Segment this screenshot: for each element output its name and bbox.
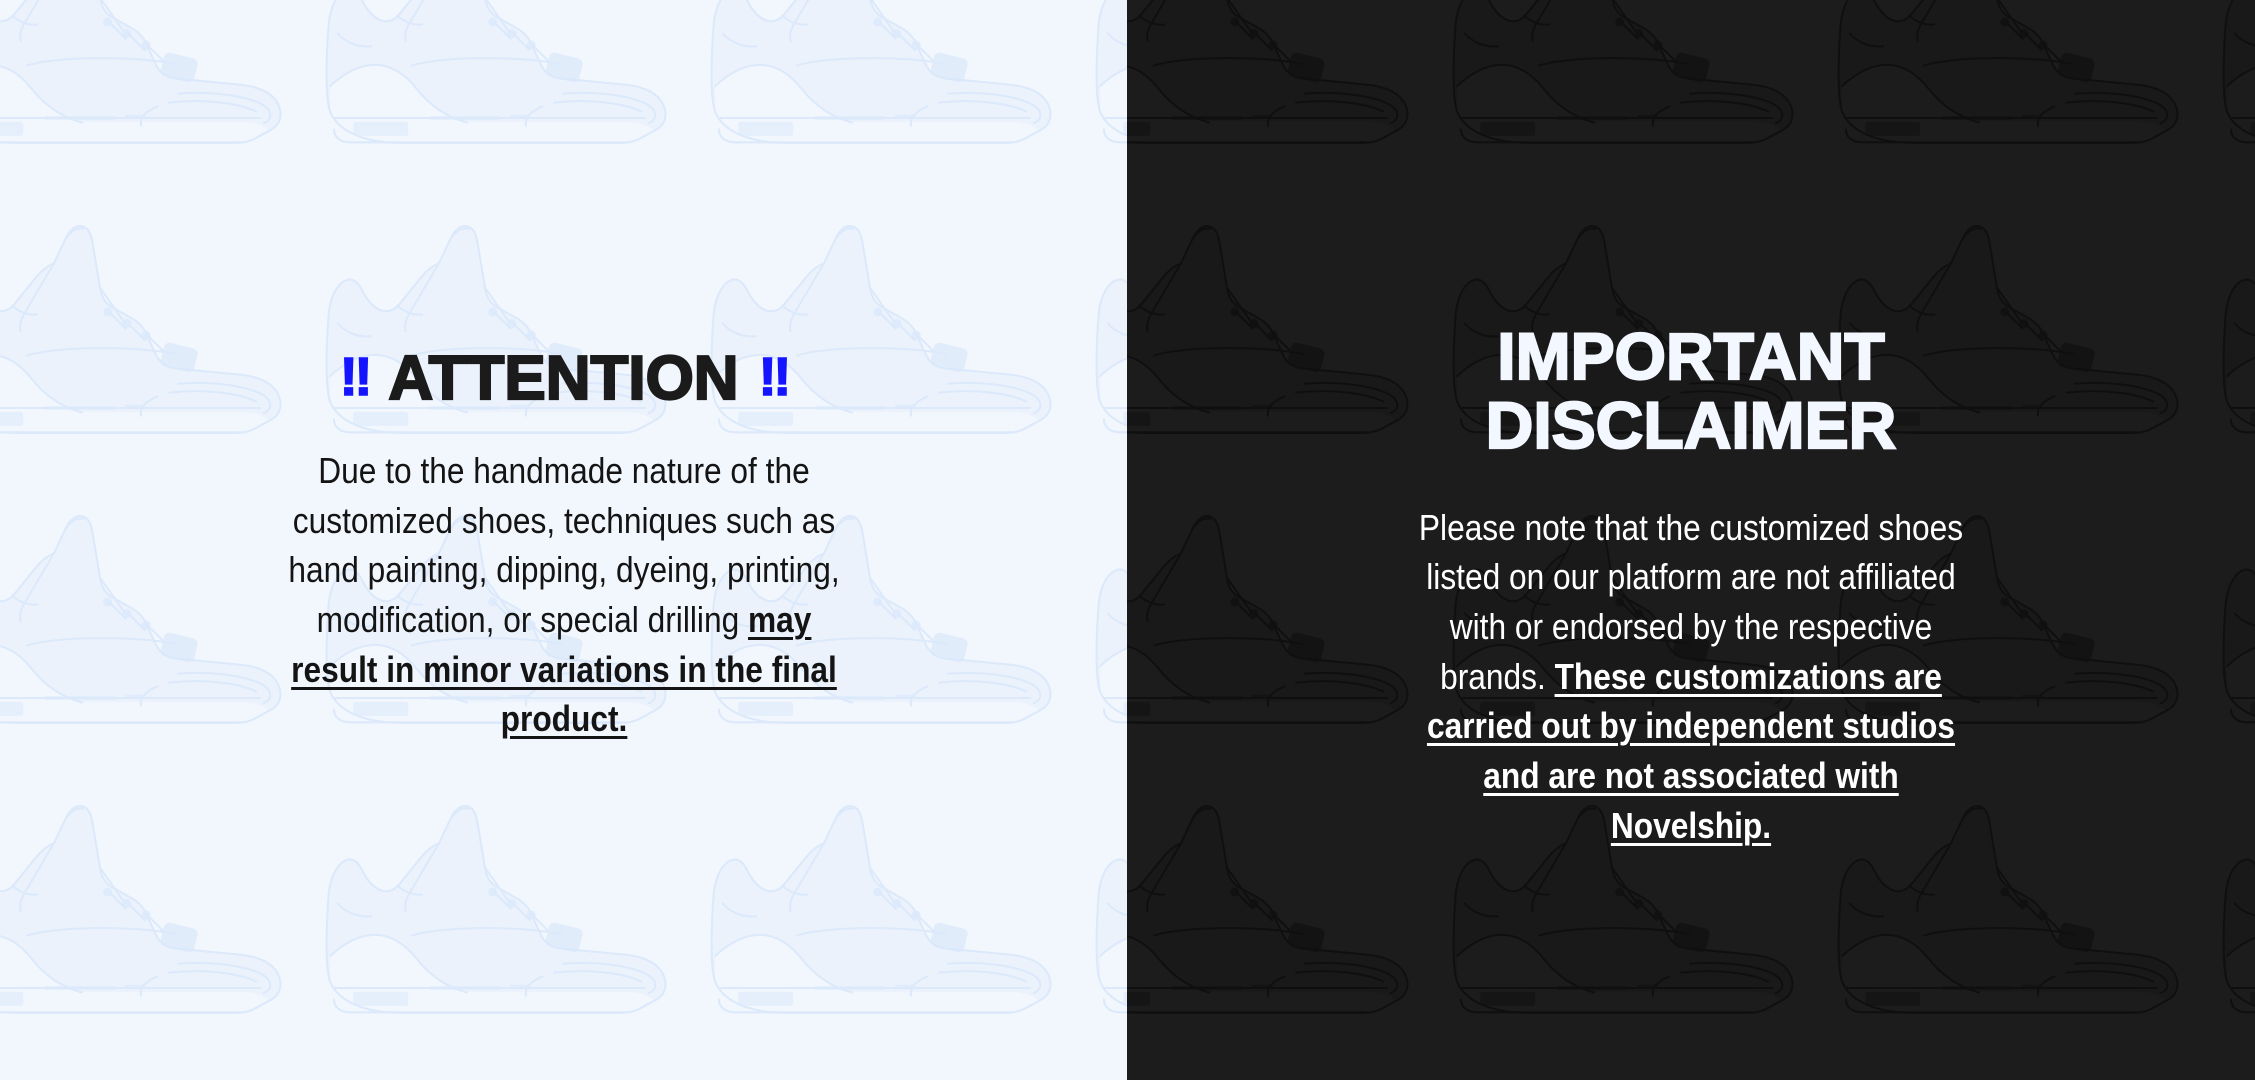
double-exclamation-icon-left: ‼	[340, 347, 369, 407]
attention-body: Due to the handmade nature of the custom…	[282, 446, 845, 744]
customization-disclaimer-banner: ‼ATTENTION‼ Due to the handmade nature o…	[0, 0, 2255, 1080]
attention-heading: ‼ATTENTION‼	[114, 348, 1014, 410]
attention-content: ‼ATTENTION‼ Due to the handmade nature o…	[114, 348, 1014, 744]
disclaimer-content: IMPORTANTDISCLAIMER Please note that the…	[1241, 322, 2141, 850]
disclaimer-heading: IMPORTANTDISCLAIMER	[1371, 322, 2011, 461]
double-exclamation-icon-right: ‼	[759, 347, 788, 407]
disclaimer-body: Please note that the customized shoes li…	[1401, 503, 1982, 851]
attention-panel: ‼ATTENTION‼ Due to the handmade nature o…	[0, 0, 1127, 1080]
disclaimer-panel: IMPORTANTDISCLAIMER Please note that the…	[1127, 0, 2255, 1080]
attention-heading-text: ATTENTION	[388, 344, 738, 413]
disclaimer-heading-line2: DISCLAIMER	[1486, 388, 1897, 462]
disclaimer-heading-line1: IMPORTANT	[1497, 319, 1884, 393]
